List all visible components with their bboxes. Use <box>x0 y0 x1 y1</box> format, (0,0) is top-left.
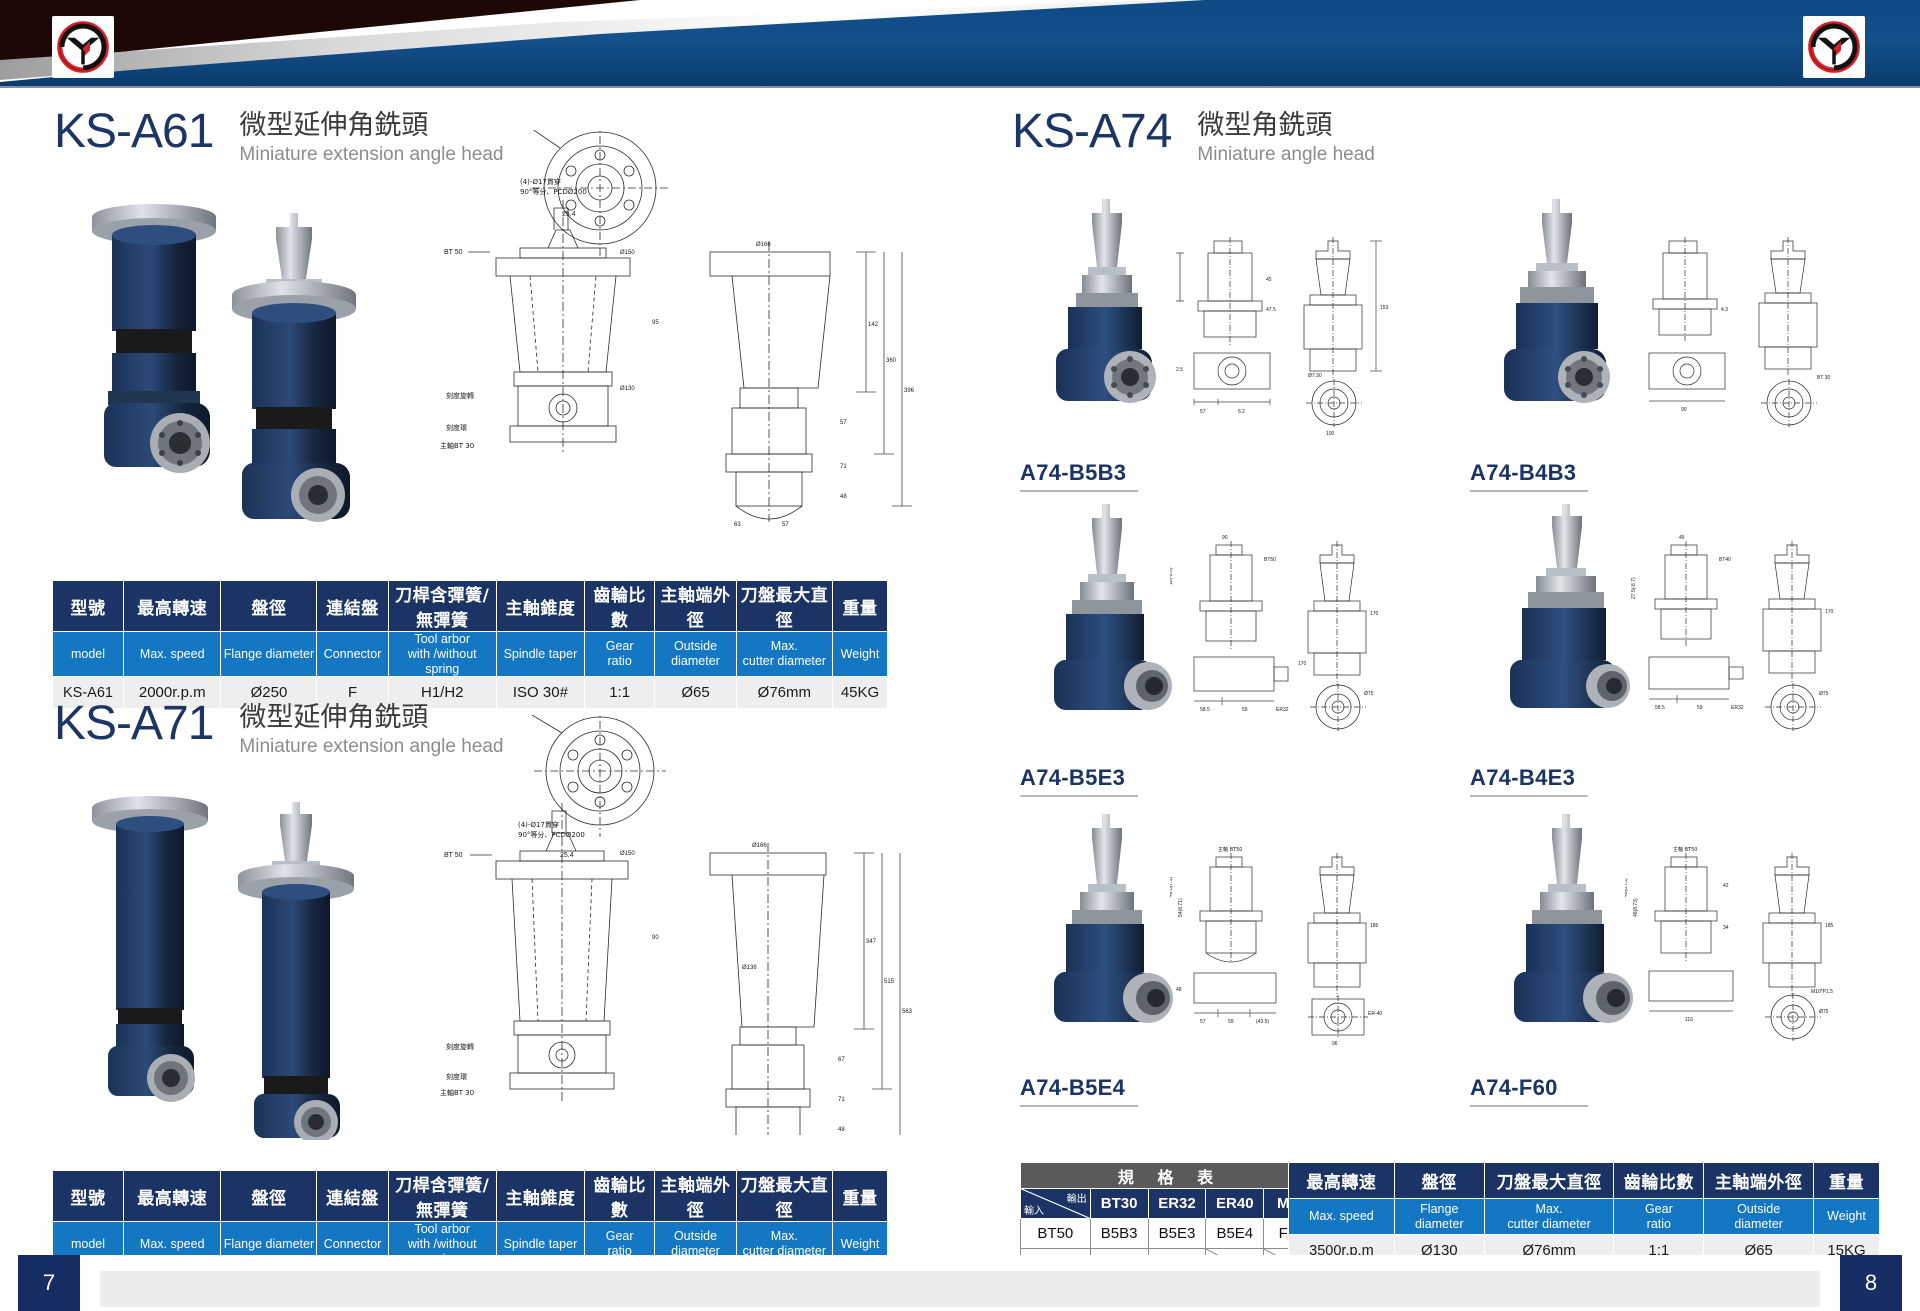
th-en-model: model <box>53 632 124 677</box>
svg-text:48: 48 <box>838 1127 845 1133</box>
svg-text:57: 57 <box>1200 409 1206 415</box>
matrix-cell: B5E4 <box>1206 1219 1264 1249</box>
product-name-block: 微型角銑頭 Miniature angle head <box>1197 108 1374 168</box>
th-cn-speed: 最高轉速 <box>1289 1163 1395 1199</box>
matrix-row-bt50: BT50 B5B3 B5E3 B5E4 F60 <box>1021 1219 1320 1249</box>
svg-text:57: 57 <box>782 522 789 528</box>
svg-text:主軸 BT50: 主軸 BT50 <box>1673 846 1697 853</box>
product-name-cn: 微型角銑頭 <box>1197 110 1374 141</box>
svg-text:13.08: 13.08 <box>1625 268 1627 281</box>
svg-text:刻度旋轉: 刻度旋轉 <box>446 1042 474 1051</box>
svg-text:515: 515 <box>884 979 895 985</box>
svg-text:ER32: ER32 <box>1276 707 1289 713</box>
matrix-axis-input-label: 輸入 <box>1024 1202 1044 1217</box>
svg-text:Ø7.50: Ø7.50 <box>1216 235 1230 237</box>
svg-text:142: 142 <box>868 322 879 328</box>
th-cn-speed: 最高轉速 <box>123 581 221 632</box>
svg-text:58.5: 58.5 <box>1200 707 1210 713</box>
svg-text:47.5: 47.5 <box>1266 307 1276 313</box>
matrix-caption-row: 規 格 表 <box>1021 1163 1320 1189</box>
th-en-weight: Weight <box>833 632 888 677</box>
spec-table-header-cn: 型號 最高轉速 盤徑 連結盤 刀桿含彈簧/無彈簧 主軸錐度 齒輪比數 主軸端外徑… <box>53 581 888 632</box>
svg-text:71: 71 <box>838 1097 845 1103</box>
technical-drawing-ks-a71: (4)-Ø17貫穿 90°等分、PCDØ200 25.4 BT 50 Ø150 … <box>440 715 930 1135</box>
page-number-right: 8 <box>1840 1255 1902 1311</box>
svg-text:(4)-Ø17貫穿: (4)-Ø17貫穿 <box>520 177 561 186</box>
page-header-banner <box>0 0 1920 88</box>
th-en-outside: Outside diameter <box>655 632 736 677</box>
th-en-taper: Spindle taper <box>496 632 584 677</box>
svg-text:90: 90 <box>1681 407 1687 413</box>
page-footer: 7 8 <box>0 1255 1920 1311</box>
svg-text:185: 185 <box>1370 923 1379 929</box>
th-cn-gear: 齒輪比數 <box>584 1171 654 1222</box>
svg-text:45: 45 <box>1266 277 1272 283</box>
svg-text:95: 95 <box>652 320 659 326</box>
svg-text:46(8.73): 46(8.73) <box>1633 898 1639 917</box>
th-cn-connector: 連結盤 <box>317 581 388 632</box>
svg-text:(4)-Ø17貫穿: (4)-Ø17貫穿 <box>518 820 559 829</box>
svg-text:116: 116 <box>1685 1017 1693 1023</box>
matrix-corner-cell: 輸入 輸出 <box>1021 1189 1091 1219</box>
svg-text:360: 360 <box>886 358 897 364</box>
variant-label-a74-b5b3: A74-B5B3 <box>1020 460 1138 492</box>
svg-text:BT50: BT50 <box>1264 557 1276 563</box>
th-cn-weight: 重量 <box>1814 1163 1880 1199</box>
th-cn-cutter: 刀盤最大直徑 <box>1484 1163 1614 1199</box>
svg-text:刻度旋轉: 刻度旋轉 <box>446 391 474 400</box>
svg-text:71: 71 <box>840 464 847 470</box>
svg-text:BT 50: BT 50 <box>444 852 463 859</box>
technical-drawing-a74-b5b3: 16(-8.0) Ø7.50 45 47.5 57 6.2 2.5 <box>1170 235 1400 435</box>
page-number-left: 7 <box>18 1255 80 1311</box>
th-cn-taper: 主軸錐度 <box>496 1171 584 1222</box>
svg-text:38.5: 38.5 <box>1625 571 1627 581</box>
variant-label-a74-b4b3: A74-B4B3 <box>1470 460 1588 492</box>
svg-text:54(8.71): 54(8.71) <box>1178 898 1184 917</box>
product-heading-ks-a61: KS-A61 微型延伸角銑頭 Miniature extension angle… <box>54 108 504 168</box>
th-cn-flange: 盤徑 <box>221 1171 317 1222</box>
th-en-flange: Flange diameter <box>1394 1199 1484 1235</box>
svg-text:Ø7.40: Ø7.40 <box>1667 235 1681 237</box>
technical-drawing-a74-b4b3: Ø7.40 13.08 4.3 90 BT 30 <box>1625 235 1855 435</box>
svg-text:BT40: BT40 <box>1719 557 1731 563</box>
svg-text:185: 185 <box>1825 923 1834 929</box>
th-cn-outside: 主軸端外徑 <box>1704 1163 1814 1199</box>
th-en-gear: Gear ratio <box>1614 1199 1704 1235</box>
svg-text:刻度環: 刻度環 <box>446 1072 467 1081</box>
product-photo-ks-a61 <box>54 195 454 525</box>
spec-table-ks-a61: 型號 最高轉速 盤徑 連結盤 刀桿含彈簧/無彈簧 主軸錐度 齒輪比數 主軸端外徑… <box>52 580 888 709</box>
brand-logo-left <box>52 16 114 78</box>
spec-table-header-en: Max. speed Flange diameter Max. cutter d… <box>1289 1199 1880 1235</box>
matrix-caption: 規 格 表 <box>1021 1163 1320 1189</box>
svg-text:6.2: 6.2 <box>1238 409 1245 415</box>
th-cn-model: 型號 <box>53 1171 124 1222</box>
svg-text:Ø75: Ø75 <box>1819 691 1829 697</box>
svg-text:Ø150: Ø150 <box>620 250 635 256</box>
svg-text:27.5(-8.7): 27.5(-8.7) <box>1631 577 1637 599</box>
svg-text:Ø136: Ø136 <box>742 965 757 971</box>
technical-drawing-a74-b4e3: 45 BT40 38.5 27.5(-8.7) 58.5 59 ER32 <box>1625 535 1855 735</box>
svg-text:170: 170 <box>1370 611 1379 617</box>
svg-text:58.5: 58.5 <box>1655 705 1665 711</box>
th-en-flange: Flange diameter <box>221 632 317 677</box>
svg-text:M10*P1.5: M10*P1.5 <box>1811 989 1833 995</box>
svg-text:主軸BT 30: 主軸BT 30 <box>440 1088 474 1097</box>
th-en-connector: Connector <box>317 632 388 677</box>
svg-text:主軸BT 30: 主軸BT 30 <box>440 441 474 450</box>
technical-drawing-a74-b5e3: 90 BT50 16(-8.0) 58.5 59 ER32 170 1 <box>1170 535 1400 735</box>
svg-text:170: 170 <box>1298 661 1307 667</box>
spec-table-ks-a74: 最高轉速 盤徑 刀盤最大直徑 齒輪比數 主軸端外徑 重量 Max. speed … <box>1288 1162 1880 1267</box>
company-circle-y-logo-icon <box>54 18 112 76</box>
svg-text:Ø150: Ø150 <box>620 851 635 857</box>
th-en-weight: Weight <box>1814 1199 1880 1235</box>
matrix-cell: B5E3 <box>1148 1219 1206 1249</box>
th-en-arbor: Tool arbor with /without spring <box>388 632 496 677</box>
svg-text:45: 45 <box>1679 535 1685 541</box>
svg-text:Ø166: Ø166 <box>752 843 767 849</box>
svg-text:2.5: 2.5 <box>1176 367 1183 373</box>
svg-text:59: 59 <box>1242 707 1248 713</box>
th-cn-outside: 主軸端外徑 <box>655 1171 736 1222</box>
th-en-cutter: Max. cutter diameter <box>736 632 832 677</box>
th-cn-arbor: 刀桿含彈簧/無彈簧 <box>388 581 496 632</box>
th-cn-flange: 盤徑 <box>221 581 317 632</box>
th-cn-outside: 主軸端外徑 <box>655 581 736 632</box>
th-en-outside: Outside diameter <box>1704 1199 1814 1235</box>
svg-text:25.4: 25.4 <box>562 211 576 218</box>
svg-text:Ø75: Ø75 <box>1819 1009 1829 1015</box>
th-cn-flange: 盤徑 <box>1394 1163 1484 1199</box>
svg-text:40(8.73): 40(8.73) <box>1625 878 1629 897</box>
variant-label-a74-b5e4: A74-B5E4 <box>1020 1075 1138 1107</box>
th-en-speed: Max. speed <box>1289 1199 1395 1235</box>
product-code: KS-A61 <box>54 108 213 156</box>
svg-text:主軸 BT50: 主軸 BT50 <box>1218 846 1242 853</box>
product-code: KS-A74 <box>1012 108 1171 156</box>
th-en-speed: Max. speed <box>123 632 221 677</box>
svg-text:347: 347 <box>866 939 877 945</box>
variant-label-a74-b5e3: A74-B5E3 <box>1020 765 1138 797</box>
svg-text:ER32: ER32 <box>1731 705 1744 711</box>
th-cn-gear: 齒輪比數 <box>1614 1163 1704 1199</box>
th-en-cutter: Max. cutter diameter <box>1484 1199 1614 1235</box>
svg-text:42: 42 <box>1723 883 1729 889</box>
th-cn-model: 型號 <box>53 581 124 632</box>
svg-text:ER-40: ER-40 <box>1368 1011 1382 1017</box>
svg-text:48.0(7.1): 48.0(7.1) <box>1170 877 1174 897</box>
company-circle-y-logo-icon <box>1805 18 1863 76</box>
th-en-gear: Gear ratio <box>584 632 654 677</box>
spec-table-header-cn: 最高轉速 盤徑 刀盤最大直徑 齒輪比數 主軸端外徑 重量 <box>1289 1163 1880 1199</box>
svg-text:59: 59 <box>1228 1019 1234 1025</box>
svg-text:90°等分、PCDØ200: 90°等分、PCDØ200 <box>520 187 587 196</box>
brand-logo-right <box>1803 16 1865 78</box>
technical-drawing-ks-a61: (4)-Ø17貫穿 90°等分、PCDØ200 25.4 BT 50 Ø150 … <box>440 130 930 530</box>
banner-hairline <box>0 86 1920 88</box>
svg-text:57: 57 <box>840 420 847 426</box>
svg-text:4.3: 4.3 <box>1721 307 1728 313</box>
th-cn-cutter: 刀盤最大直徑 <box>736 1171 832 1222</box>
svg-text:Ø130: Ø130 <box>620 386 635 392</box>
svg-text:153: 153 <box>1380 305 1389 311</box>
product-heading-ks-a71: KS-A71 微型延伸角銑頭 Miniature extension angle… <box>54 700 504 760</box>
matrix-col-bt30: BT30 <box>1090 1189 1148 1219</box>
th-cn-connector: 連結盤 <box>317 1171 388 1222</box>
catalog-page-spread: KS-A61 微型延伸角銑頭 Miniature extension angle… <box>0 0 1920 1311</box>
svg-text:刻度環: 刻度環 <box>446 423 467 432</box>
matrix-cell: B5B3 <box>1090 1219 1148 1249</box>
td-outside: Ø65 <box>655 677 736 709</box>
matrix-header-row: 輸入 輸出 BT30 ER32 ER40 M10 <box>1021 1189 1320 1219</box>
svg-text:34: 34 <box>1723 925 1729 931</box>
td-taper: ISO 30# <box>496 677 584 709</box>
svg-text:57: 57 <box>1200 1019 1206 1025</box>
variant-label-a74-b4e3: A74-B4E3 <box>1470 765 1588 797</box>
variant-label-a74-f60: A74-F60 <box>1470 1075 1588 1107</box>
svg-text:59: 59 <box>1697 705 1703 711</box>
svg-text:48: 48 <box>1176 987 1182 993</box>
th-cn-weight: 重量 <box>833 581 888 632</box>
svg-text:48: 48 <box>840 494 847 500</box>
svg-text:100: 100 <box>1326 431 1335 435</box>
td-weight: 45KG <box>833 677 888 709</box>
svg-text:Ø75: Ø75 <box>1364 691 1374 697</box>
th-cn-cutter: 刀盤最大直徑 <box>736 581 832 632</box>
td-gear: 1:1 <box>584 677 654 709</box>
th-cn-speed: 最高轉速 <box>123 1171 221 1222</box>
matrix-row-input: BT50 <box>1021 1219 1091 1249</box>
matrix-col-er32: ER32 <box>1148 1189 1206 1219</box>
product-heading-ks-a74: KS-A74 微型角銑頭 Miniature angle head <box>1012 108 1375 168</box>
svg-text:96: 96 <box>1332 1041 1338 1045</box>
th-cn-gear: 齒輪比數 <box>584 581 654 632</box>
svg-text:BT 30: BT 30 <box>1817 375 1830 381</box>
td-cutter: Ø76mm <box>736 677 832 709</box>
svg-text:BT 50: BT 50 <box>444 249 463 256</box>
svg-text:396: 396 <box>904 388 915 394</box>
svg-text:90: 90 <box>652 935 659 941</box>
matrix-axis-output-label: 輸出 <box>1067 1190 1087 1205</box>
svg-text:67: 67 <box>838 1057 845 1063</box>
svg-text:Ø7.30: Ø7.30 <box>1308 373 1322 379</box>
product-name-en: Miniature angle head <box>1197 143 1374 168</box>
spec-table-header-cn: 型號 最高轉速 盤徑 連結盤 刀桿含彈簧/無彈簧 主軸錐度 齒輪比數 主軸端外徑… <box>53 1171 888 1222</box>
matrix-col-er40: ER40 <box>1206 1189 1264 1219</box>
svg-text:170: 170 <box>1825 609 1834 615</box>
svg-text:90°等分、PCDØ200: 90°等分、PCDØ200 <box>518 830 585 839</box>
th-cn-arbor: 刀桿含彈簧/無彈簧 <box>388 1171 496 1222</box>
svg-text:63: 63 <box>734 522 741 528</box>
th-cn-weight: 重量 <box>833 1171 888 1222</box>
th-cn-taper: 主軸錐度 <box>496 581 584 632</box>
technical-drawing-a74-f60: 主軸 BT50 40(8.73) 46(8.73) 42 34 116 185 <box>1625 845 1855 1045</box>
svg-text:90: 90 <box>1222 535 1228 541</box>
spec-table-header-en: model Max. speed Flange diameter Connect… <box>53 632 888 677</box>
svg-text:(43.5): (43.5) <box>1256 1019 1269 1025</box>
product-code: KS-A71 <box>54 700 213 748</box>
svg-text:563: 563 <box>902 1009 913 1015</box>
product-photo-ks-a71 <box>54 790 454 1140</box>
footer-grey-band <box>100 1271 1820 1307</box>
svg-text:16(-8.0): 16(-8.0) <box>1170 567 1174 585</box>
technical-drawing-a74-b5e4: 主軸 BT50 48.0(7.1) 54(8.71) 57 59 (43.5) … <box>1170 845 1400 1045</box>
